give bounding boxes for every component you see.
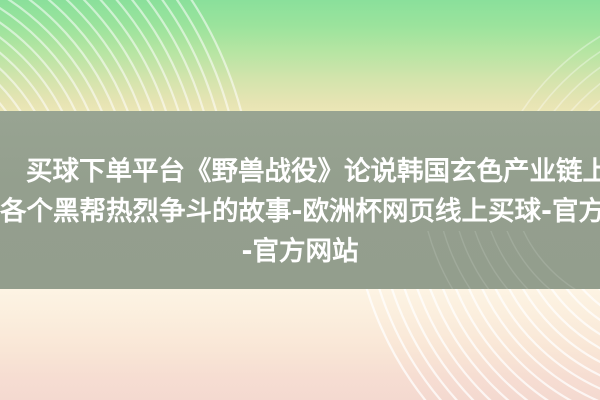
decorative-arcs-bottom-right-icon [300,289,600,400]
headline-line-1: 买球下单平台《野兽战役》论说韩国玄色产业链上 [0,152,600,192]
top-gradient-band [0,0,600,111]
headline-line-3: -官方网站 [0,232,600,272]
decorative-arcs-top-right-icon [430,10,600,111]
headline-line-2: 各个黑帮热烈争斗的故事-欧洲杯网页线上买球-官方网 [0,192,600,232]
banner-image: 买球下单平台《野兽战役》论说韩国玄色产业链上 各个黑帮热烈争斗的故事-欧洲杯网页… [0,0,600,400]
decorative-arcs-top-left-icon [0,0,250,111]
bottom-gradient-band [0,289,600,400]
headline-text: 买球下单平台《野兽战役》论说韩国玄色产业链上 各个黑帮热烈争斗的故事-欧洲杯网页… [0,152,600,288]
